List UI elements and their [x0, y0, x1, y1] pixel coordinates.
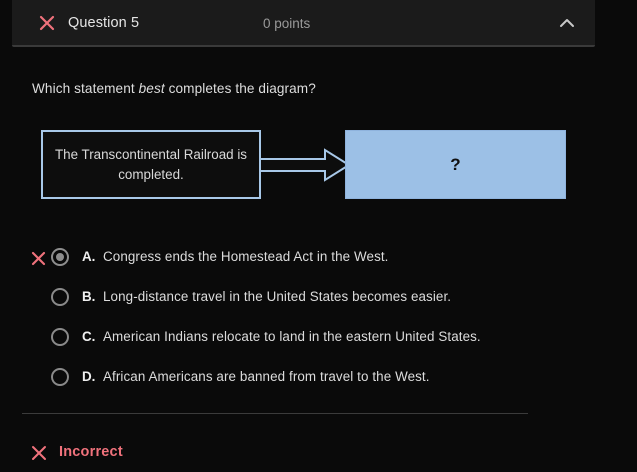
feedback-label: Incorrect: [59, 444, 123, 460]
radio-button-d[interactable]: [51, 368, 69, 386]
x-mark-icon: [38, 14, 56, 32]
option-text-c: American Indians relocate to land in the…: [103, 329, 481, 344]
x-mark-icon: [30, 444, 48, 462]
answer-option-b[interactable]: B. Long-distance travel in the United St…: [0, 283, 637, 323]
diagram-effect-box: ?: [345, 130, 566, 199]
x-mark-icon: [30, 250, 47, 267]
answer-option-d[interactable]: D. African Americans are banned from tra…: [0, 363, 637, 403]
diagram-cause-box: The Transcontinental Railroad is complet…: [41, 130, 261, 199]
prompt-emphasis: best: [139, 81, 165, 96]
option-letter-a: A.: [82, 249, 95, 264]
radio-button-a[interactable]: [51, 248, 69, 266]
option-text-d: African Americans are banned from travel…: [103, 369, 430, 384]
radio-button-b[interactable]: [51, 288, 69, 306]
question-header-card[interactable]: Question 5 0 points: [12, 0, 595, 47]
question-points: 0 points: [263, 16, 310, 31]
diagram-cause-text: The Transcontinental Railroad is complet…: [43, 145, 259, 183]
option-letter-b: B.: [82, 289, 95, 304]
radio-button-c[interactable]: [51, 328, 69, 346]
question-title: Question 5: [68, 15, 139, 31]
answer-option-a[interactable]: A. Congress ends the Homestead Act in th…: [0, 243, 637, 283]
prompt-text-after: completes the diagram?: [165, 81, 316, 96]
diagram: The Transcontinental Railroad is complet…: [41, 130, 566, 199]
chevron-up-icon[interactable]: [555, 12, 579, 36]
question-header-inner: Question 5 0 points: [12, 0, 595, 45]
question-prompt: Which statement best completes the diagr…: [32, 81, 316, 96]
prompt-text-before: Which statement: [32, 81, 139, 96]
diagram-effect-text: ?: [450, 155, 460, 175]
option-text-b: Long-distance travel in the United State…: [103, 289, 451, 304]
option-letter-c: C.: [82, 329, 95, 344]
answer-option-c[interactable]: C. American Indians relocate to land in …: [0, 323, 637, 363]
right-arrow-outline-icon: [259, 147, 351, 183]
option-text-a: Congress ends the Homestead Act in the W…: [103, 249, 389, 264]
answer-options-list: A. Congress ends the Homestead Act in th…: [0, 243, 637, 403]
option-letter-d: D.: [82, 369, 95, 384]
section-divider: [22, 413, 528, 414]
